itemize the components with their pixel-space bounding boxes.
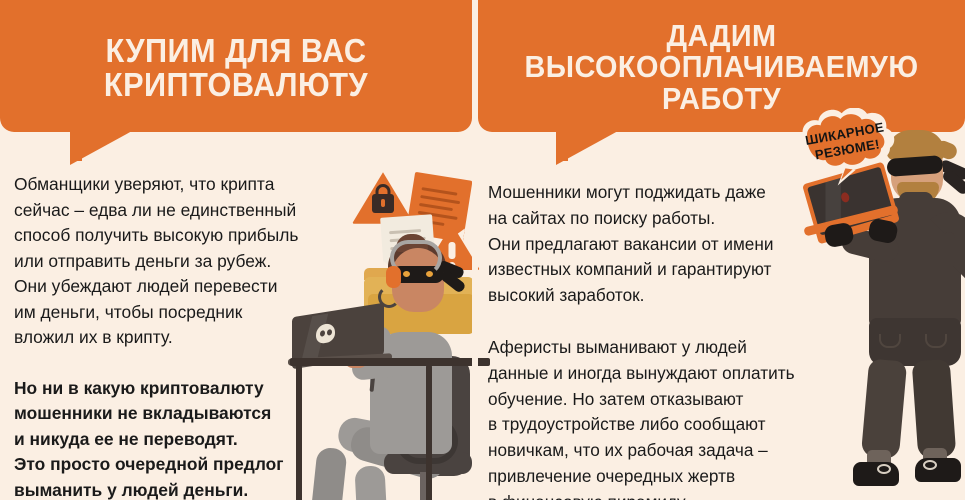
- trouser-pocket: [879, 334, 901, 348]
- man-shoe-left: [853, 462, 899, 486]
- desk-leg: [296, 365, 302, 500]
- man-leg-left: [861, 359, 907, 460]
- scammer-shin-front: [310, 447, 347, 500]
- bubble-tail-job: [556, 131, 618, 165]
- infographic-canvas: КУПИМ ДЛЯ ВАС КРИПТОВАЛЮТУ Обманщики уве…: [0, 0, 965, 500]
- header-title-job: ДАДИМ ВЫСОКООПЛАЧИВАЕМУЮ РАБОТУ: [495, 18, 948, 115]
- illustration-scammer-at-laptop: [300, 160, 480, 500]
- bubble-tail-crypto: [70, 131, 132, 165]
- man-leg-right: [912, 359, 957, 459]
- paragraph-job-2: Аферисты выманивают у людей данные и ино…: [488, 335, 833, 500]
- paragraph-job-1: Мошенники могут поджидать даже на сайтах…: [488, 180, 833, 309]
- skull-icon: [316, 322, 335, 344]
- header-title-crypto: КУПИМ ДЛЯ ВАС КРИПТОВАЛЮТУ: [17, 30, 456, 101]
- man-shoe-right: [915, 458, 961, 482]
- desk-leg: [426, 365, 432, 500]
- speech-cloud-resume: ШИКАРНОЕ РЕЗЮМЕ!: [783, 108, 909, 186]
- scammer-shin-back: [354, 465, 387, 500]
- trouser-pocket: [925, 334, 947, 348]
- header-bubble-crypto: КУПИМ ДЛЯ ВАС КРИПТОВАЛЮТУ: [0, 0, 472, 132]
- paragraph-crypto-2: Но ни в какую криптовалюту мошенники не …: [14, 376, 344, 500]
- body-text-job: Мошенники могут поджидать даже на сайтах…: [488, 180, 833, 500]
- desk-top: [290, 358, 490, 366]
- headset-earcup-icon: [386, 266, 401, 288]
- man-arm-right: [923, 212, 965, 288]
- illustration-masked-man-with-laptop: ШИКАРНОЕ РЕЗЮМЕ!: [803, 112, 965, 500]
- panel-job: ДАДИМ ВЫСОКООПЛАЧИВАЕМУЮ РАБОТУ Мошенник…: [478, 0, 965, 500]
- panel-crypto: КУПИМ ДЛЯ ВАС КРИПТОВАЛЮТУ Обманщики уве…: [0, 0, 472, 500]
